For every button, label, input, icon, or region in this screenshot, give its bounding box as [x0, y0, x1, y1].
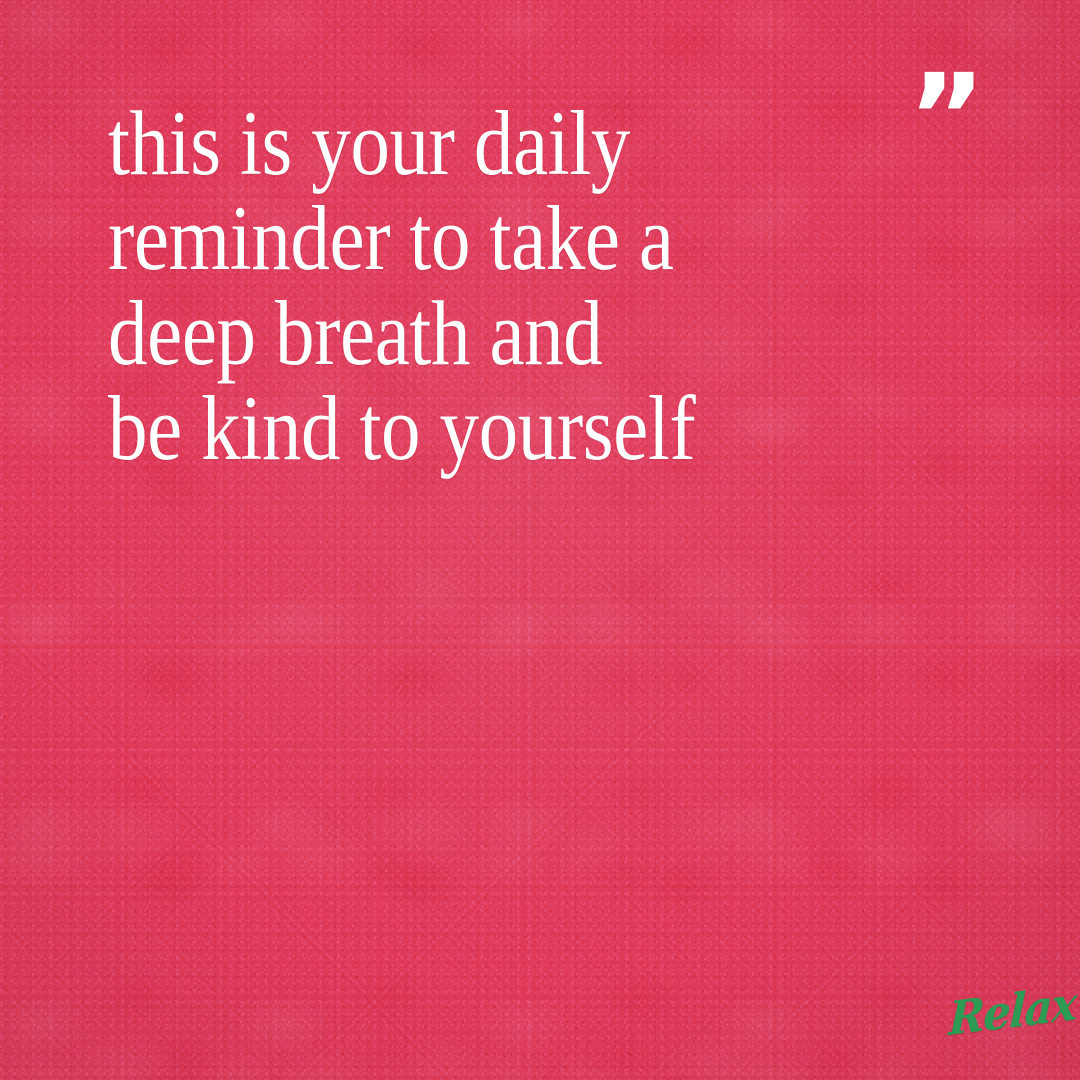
quote-poster: ” this is your daily reminder to take a …: [0, 0, 1080, 1080]
quote-line-2: reminder to take a: [108, 191, 762, 286]
quote-line-1: this is your daily: [108, 96, 762, 191]
quote-text-block: this is your daily reminder to take a de…: [108, 96, 868, 476]
quote-line-3: deep breath and: [108, 286, 762, 381]
quote-line-4: be kind to yourself: [108, 381, 762, 476]
closing-double-quotation-mark-icon: ”: [908, 58, 982, 176]
relax-signature: Relax: [948, 980, 1077, 1042]
